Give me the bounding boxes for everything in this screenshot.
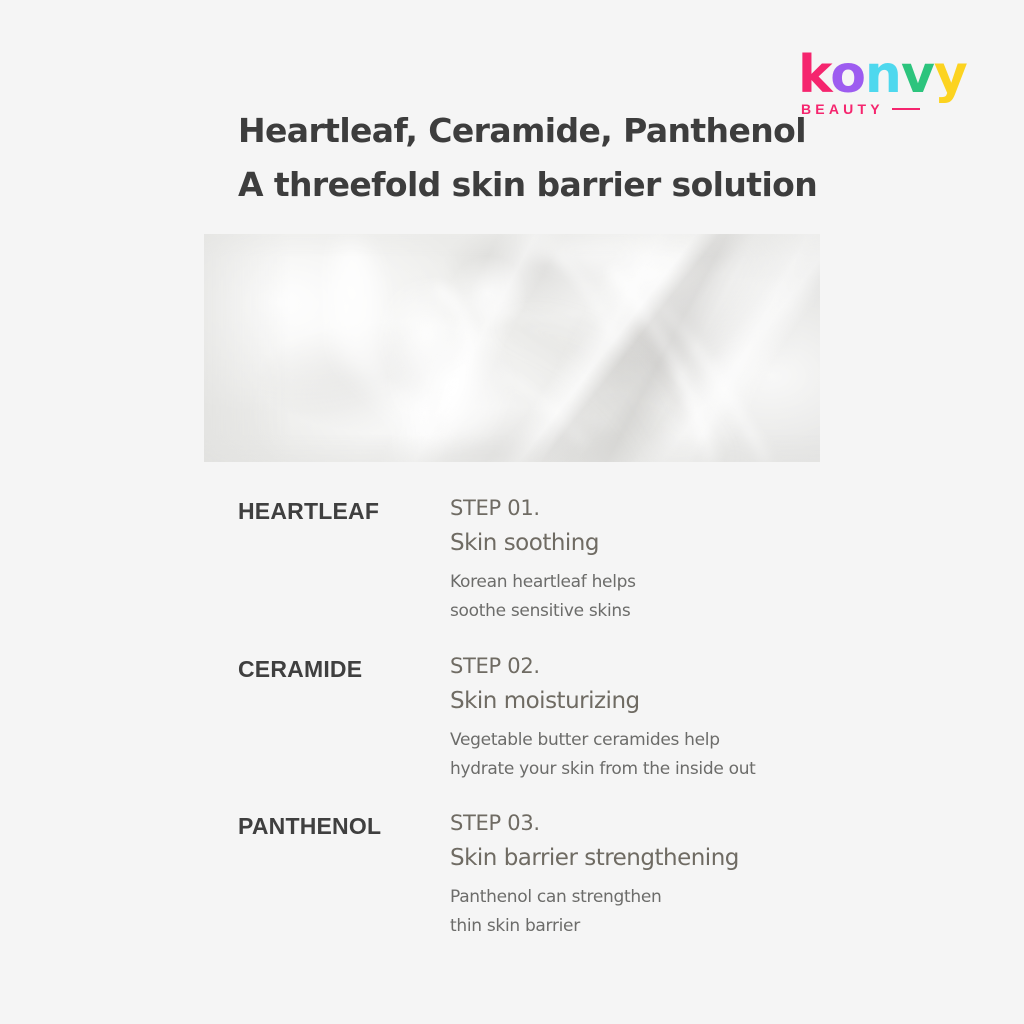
ingredient-description-line-1: Korean heartleaf helps <box>450 568 858 597</box>
ingredient-description: Panthenol can strengthen thin skin barri… <box>450 883 858 941</box>
ingredient-detail: STEP 01. Skin soothing Korean heartleaf … <box>450 492 858 626</box>
ingredient-row-panthenol: PANTHENOL STEP 03. Skin barrier strength… <box>238 807 858 957</box>
ingredient-benefit-title: Skin moisturizing <box>450 682 858 720</box>
ingredient-detail: STEP 02. Skin moisturizing Vegetable but… <box>450 650 858 784</box>
logo-letter-o: o <box>830 45 865 105</box>
ingredient-description-line-1: Vegetable butter ceramides help <box>450 726 858 755</box>
ingredient-step-label: STEP 03. <box>450 807 858 839</box>
logo-letter-k: k <box>798 45 830 105</box>
logo-letter-v: v <box>901 45 934 105</box>
ingredient-benefit-title: Skin barrier strengthening <box>450 839 858 877</box>
ingredient-description: Vegetable butter ceramides help hydrate … <box>450 726 858 784</box>
ingredient-name: CERAMIDE <box>238 650 450 684</box>
logo-letter-n: n <box>865 45 901 105</box>
ingredient-description-line-2: soothe sensitive skins <box>450 597 858 626</box>
ingredient-list: HEARTLEAF STEP 01. Skin soothing Korean … <box>238 492 858 957</box>
logo-letter-y: y <box>934 45 967 105</box>
ingredient-description-line-2: hydrate your skin from the inside out <box>450 755 858 784</box>
brand-wordmark: konvy <box>798 47 968 103</box>
ingredient-description-line-1: Panthenol can strengthen <box>450 883 858 912</box>
ingredient-row-ceramide: CERAMIDE STEP 02. Skin moisturizing Vege… <box>238 650 858 807</box>
ingredient-description-line-2: thin skin barrier <box>450 912 858 941</box>
ingredient-row-heartleaf: HEARTLEAF STEP 01. Skin soothing Korean … <box>238 492 858 650</box>
ingredient-detail: STEP 03. Skin barrier strengthening Pant… <box>450 807 858 941</box>
ingredient-step-label: STEP 01. <box>450 492 858 524</box>
page-title: Heartleaf, Ceramide, Panthenol A threefo… <box>238 104 858 212</box>
ingredient-name: HEARTLEAF <box>238 492 450 526</box>
ingredient-step-label: STEP 02. <box>450 650 858 682</box>
headline-line-2: A threefold skin barrier solution <box>238 158 858 212</box>
ingredient-name: PANTHENOL <box>238 807 450 841</box>
ingredient-benefit-title: Skin soothing <box>450 524 858 562</box>
ingredient-description: Korean heartleaf helps soothe sensitive … <box>450 568 858 626</box>
hero-vignette-layer <box>204 234 820 462</box>
cream-texture-image <box>204 234 820 462</box>
headline-line-1: Heartleaf, Ceramide, Panthenol <box>238 104 858 158</box>
page-canvas: konvy BEAUTY Heartleaf, Ceramide, Panthe… <box>0 0 1024 1024</box>
brand-dash-icon <box>892 108 920 111</box>
